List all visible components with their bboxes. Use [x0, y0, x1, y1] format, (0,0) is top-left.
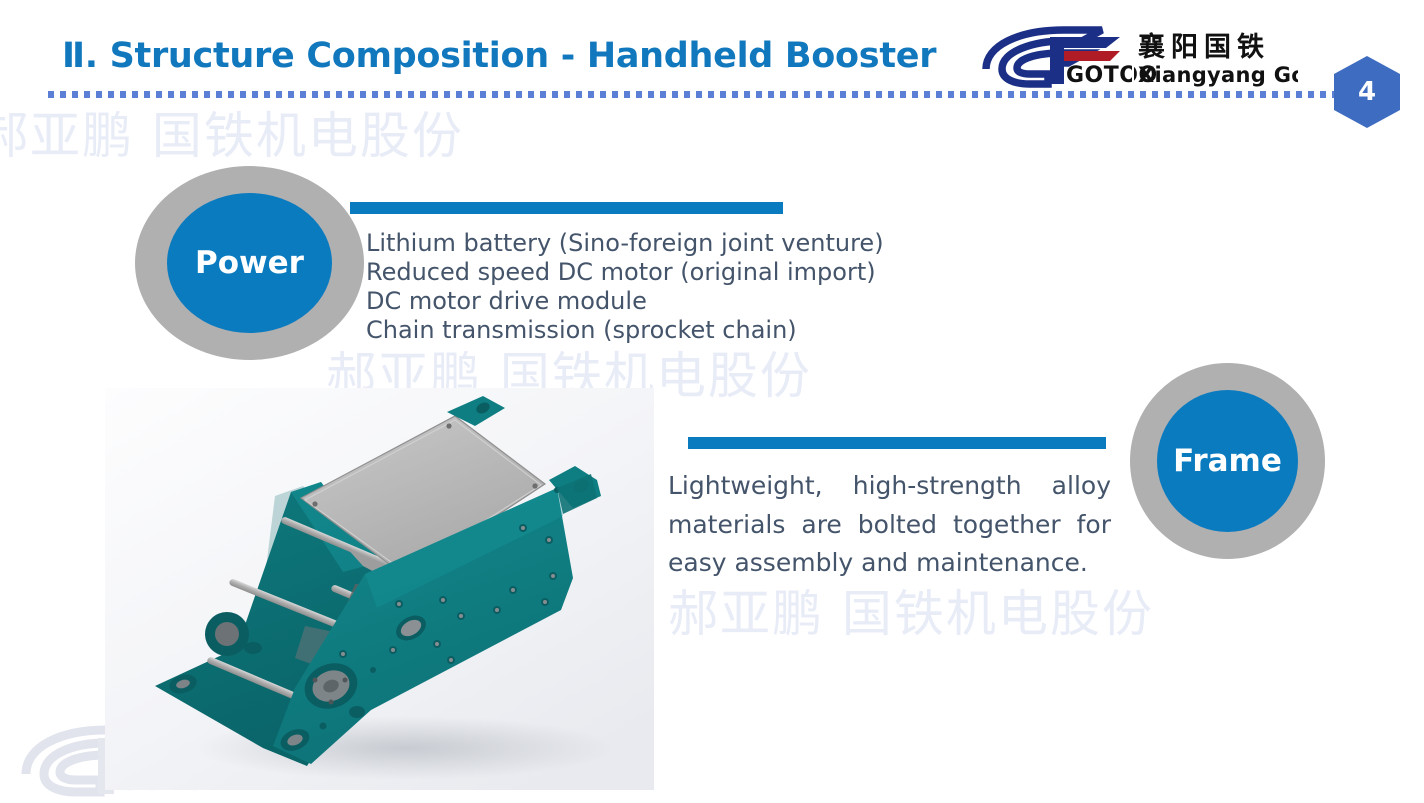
- title-dotted-divider: [48, 91, 1356, 98]
- brand-english-name: Xiangyang Gotoo: [1138, 63, 1298, 87]
- page-title: Ⅱ. Structure Composition - Handheld Boos…: [62, 36, 936, 76]
- page-number-label: 4: [1334, 56, 1400, 128]
- watermark-text-top: 郝亚鹏 国铁机电股份: [0, 96, 464, 168]
- brand-logo: GOTOO 襄阳国铁 Xiangyang Gotoo: [978, 24, 1298, 90]
- frame-description: Lightweight, high-strength alloy materia…: [668, 467, 1111, 583]
- list-item: Reduced speed DC motor (original import): [366, 258, 886, 287]
- power-feature-list: Lithium battery (Sino-foreign joint vent…: [366, 229, 886, 345]
- page-number-badge: 4: [1334, 56, 1400, 128]
- frame-accent-bar: [688, 437, 1106, 449]
- frame-circle-badge: Frame: [1130, 363, 1325, 559]
- gotoo-mark-icon: GOTOO: [986, 30, 1158, 88]
- product-cad-image: [105, 388, 654, 790]
- power-circle-badge: Power: [135, 166, 364, 360]
- slide-canvas: 郝亚鹏 国铁机电股份 郝亚鹏 国铁机电股份 郝亚鹏 国铁机电股份 GOTOO Ⅱ…: [0, 0, 1424, 803]
- list-item: DC motor drive module: [366, 287, 886, 316]
- list-item: Lithium battery (Sino-foreign joint vent…: [366, 229, 886, 258]
- power-accent-bar: [350, 202, 783, 214]
- brand-chinese-name: 襄阳国铁: [1137, 31, 1270, 63]
- frame-circle-label: Frame: [1157, 390, 1298, 532]
- watermark-text-bottom: 郝亚鹏 国铁机电股份: [668, 574, 1154, 646]
- list-item: Chain transmission (sprocket chain): [366, 316, 886, 345]
- power-circle-label: Power: [167, 193, 332, 333]
- brand-divider-icon: [1132, 28, 1134, 84]
